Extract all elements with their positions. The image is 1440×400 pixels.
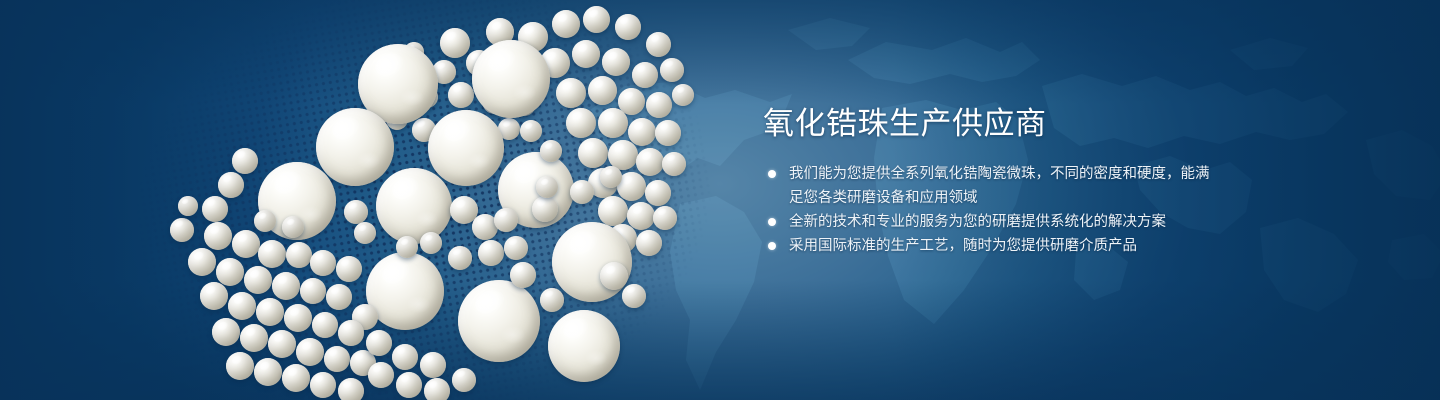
bullet-dot-icon [768, 170, 776, 178]
bullet-dot-icon [768, 218, 776, 226]
hero-banner: 氧化锆珠生产供应商 我们能为您提供全系列氧化锆陶瓷微珠，不同的密度和硬度，能满足… [0, 0, 1440, 400]
list-item: 我们能为您提供全系列氧化锆陶瓷微珠，不同的密度和硬度，能满足您各类研磨设备和应用… [763, 162, 1213, 210]
list-item: 采用国际标准的生产工艺，随时为您提供研磨介质产品 [763, 234, 1213, 258]
feature-list: 我们能为您提供全系列氧化锆陶瓷微珠，不同的密度和硬度，能满足您各类研磨设备和应用… [763, 162, 1213, 258]
list-item: 全新的技术和专业的服务为您的研磨提供系统化的解决方案 [763, 210, 1213, 234]
list-item-label: 全新的技术和专业的服务为您的研磨提供系统化的解决方案 [789, 214, 1166, 230]
page-title: 氧化锆珠生产供应商 [763, 104, 1213, 144]
background-vignette [0, 0, 1440, 400]
list-item-label: 我们能为您提供全系列氧化锆陶瓷微珠，不同的密度和硬度，能满足您各类研磨设备和应用… [789, 166, 1210, 206]
list-item-label: 采用国际标准的生产工艺，随时为您提供研磨介质产品 [789, 238, 1137, 254]
banner-copy: 氧化锆珠生产供应商 我们能为您提供全系列氧化锆陶瓷微珠，不同的密度和硬度，能满足… [763, 104, 1213, 258]
bullet-dot-icon [768, 242, 776, 250]
